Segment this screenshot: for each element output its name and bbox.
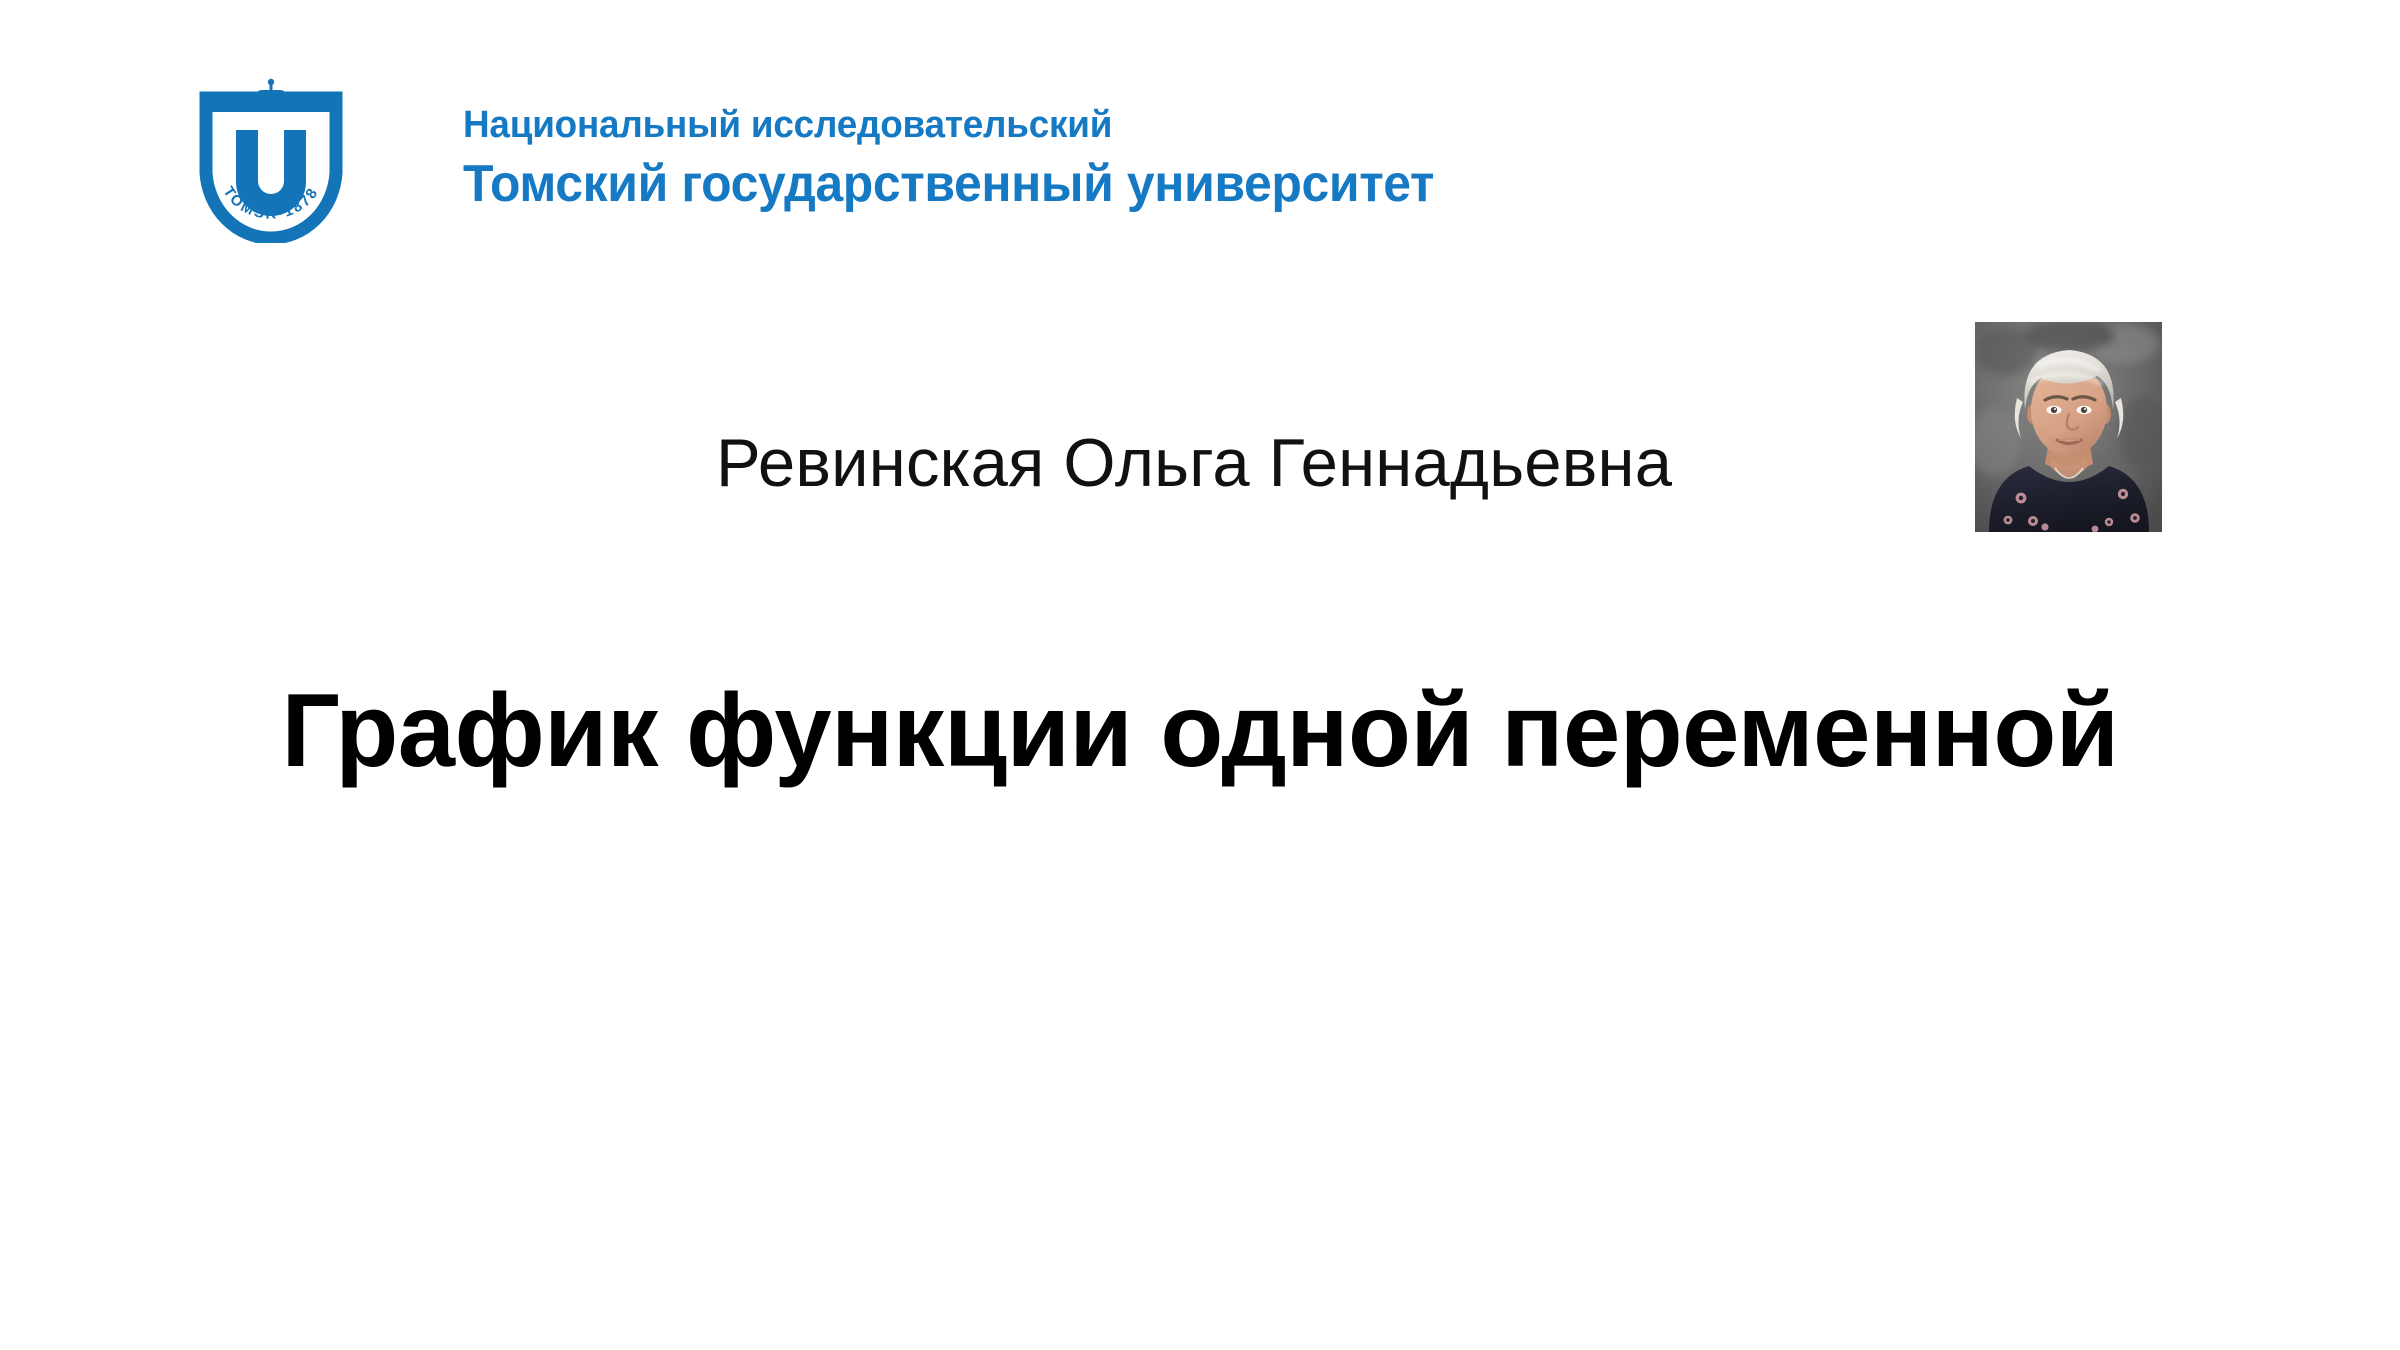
author-portrait-photo	[1975, 322, 2162, 532]
portrait-image	[1975, 322, 2162, 532]
university-name-line: Томский государственный университет	[463, 158, 1434, 210]
author-name: Ревинская Ольга Геннадьевна	[716, 424, 1672, 502]
slide-title: График функции одной переменной	[12, 672, 2388, 791]
university-qualifier-line: Национальный исследовательский	[463, 106, 1444, 144]
university-name-block: Национальный исследовательский Томский г…	[463, 106, 1475, 210]
tsu-shield-logo-icon: TOMSK-1878	[196, 78, 346, 243]
university-branding: TOMSK-1878 Национальный исследовательски…	[196, 78, 1475, 243]
presentation-slide: TOMSK-1878 Национальный исследовательски…	[0, 0, 2400, 1350]
